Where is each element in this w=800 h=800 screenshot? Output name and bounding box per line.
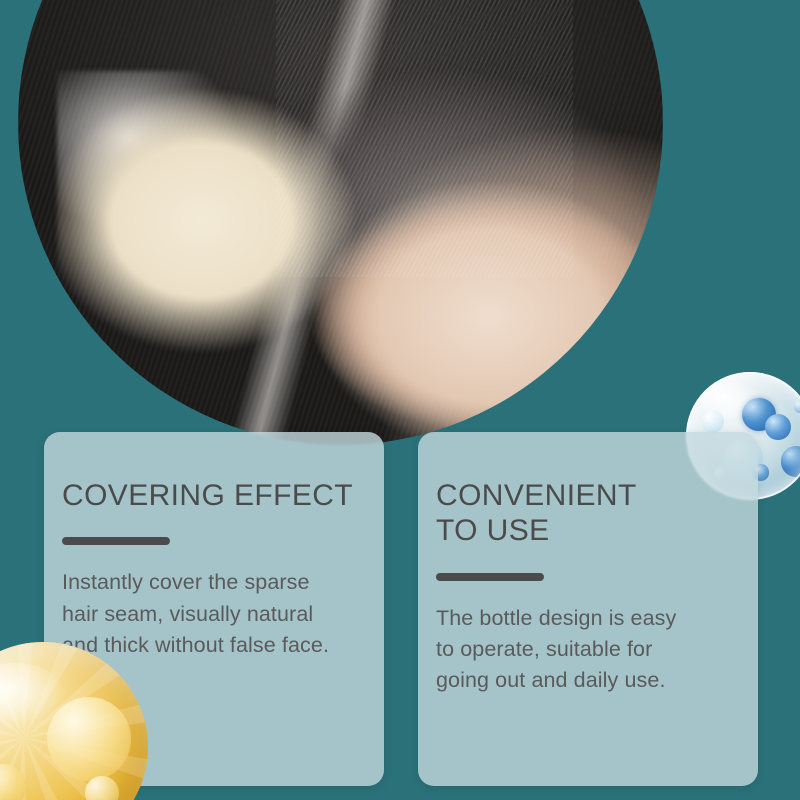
title-divider xyxy=(436,573,544,581)
oil-bubble xyxy=(85,776,119,800)
card-title: CONVENIENT TO USE xyxy=(436,478,738,549)
hero-photo-circle xyxy=(18,0,663,445)
oil-bubble xyxy=(47,697,131,781)
feature-card-list: COVERING EFFECT Instantly cover the spar… xyxy=(44,432,758,786)
promo-banner: COVERING EFFECT Instantly cover the spar… xyxy=(0,0,800,800)
card-body-text: The bottle design is easy to operate, su… xyxy=(436,603,738,697)
title-divider xyxy=(62,537,170,545)
golden-oil-droplet-sphere-icon xyxy=(0,642,148,800)
feature-card-convenient-to-use: CONVENIENT TO USE The bottle design is e… xyxy=(418,432,758,786)
card-title: COVERING EFFECT xyxy=(62,478,364,513)
hero-photo-hair-strands xyxy=(276,0,573,277)
